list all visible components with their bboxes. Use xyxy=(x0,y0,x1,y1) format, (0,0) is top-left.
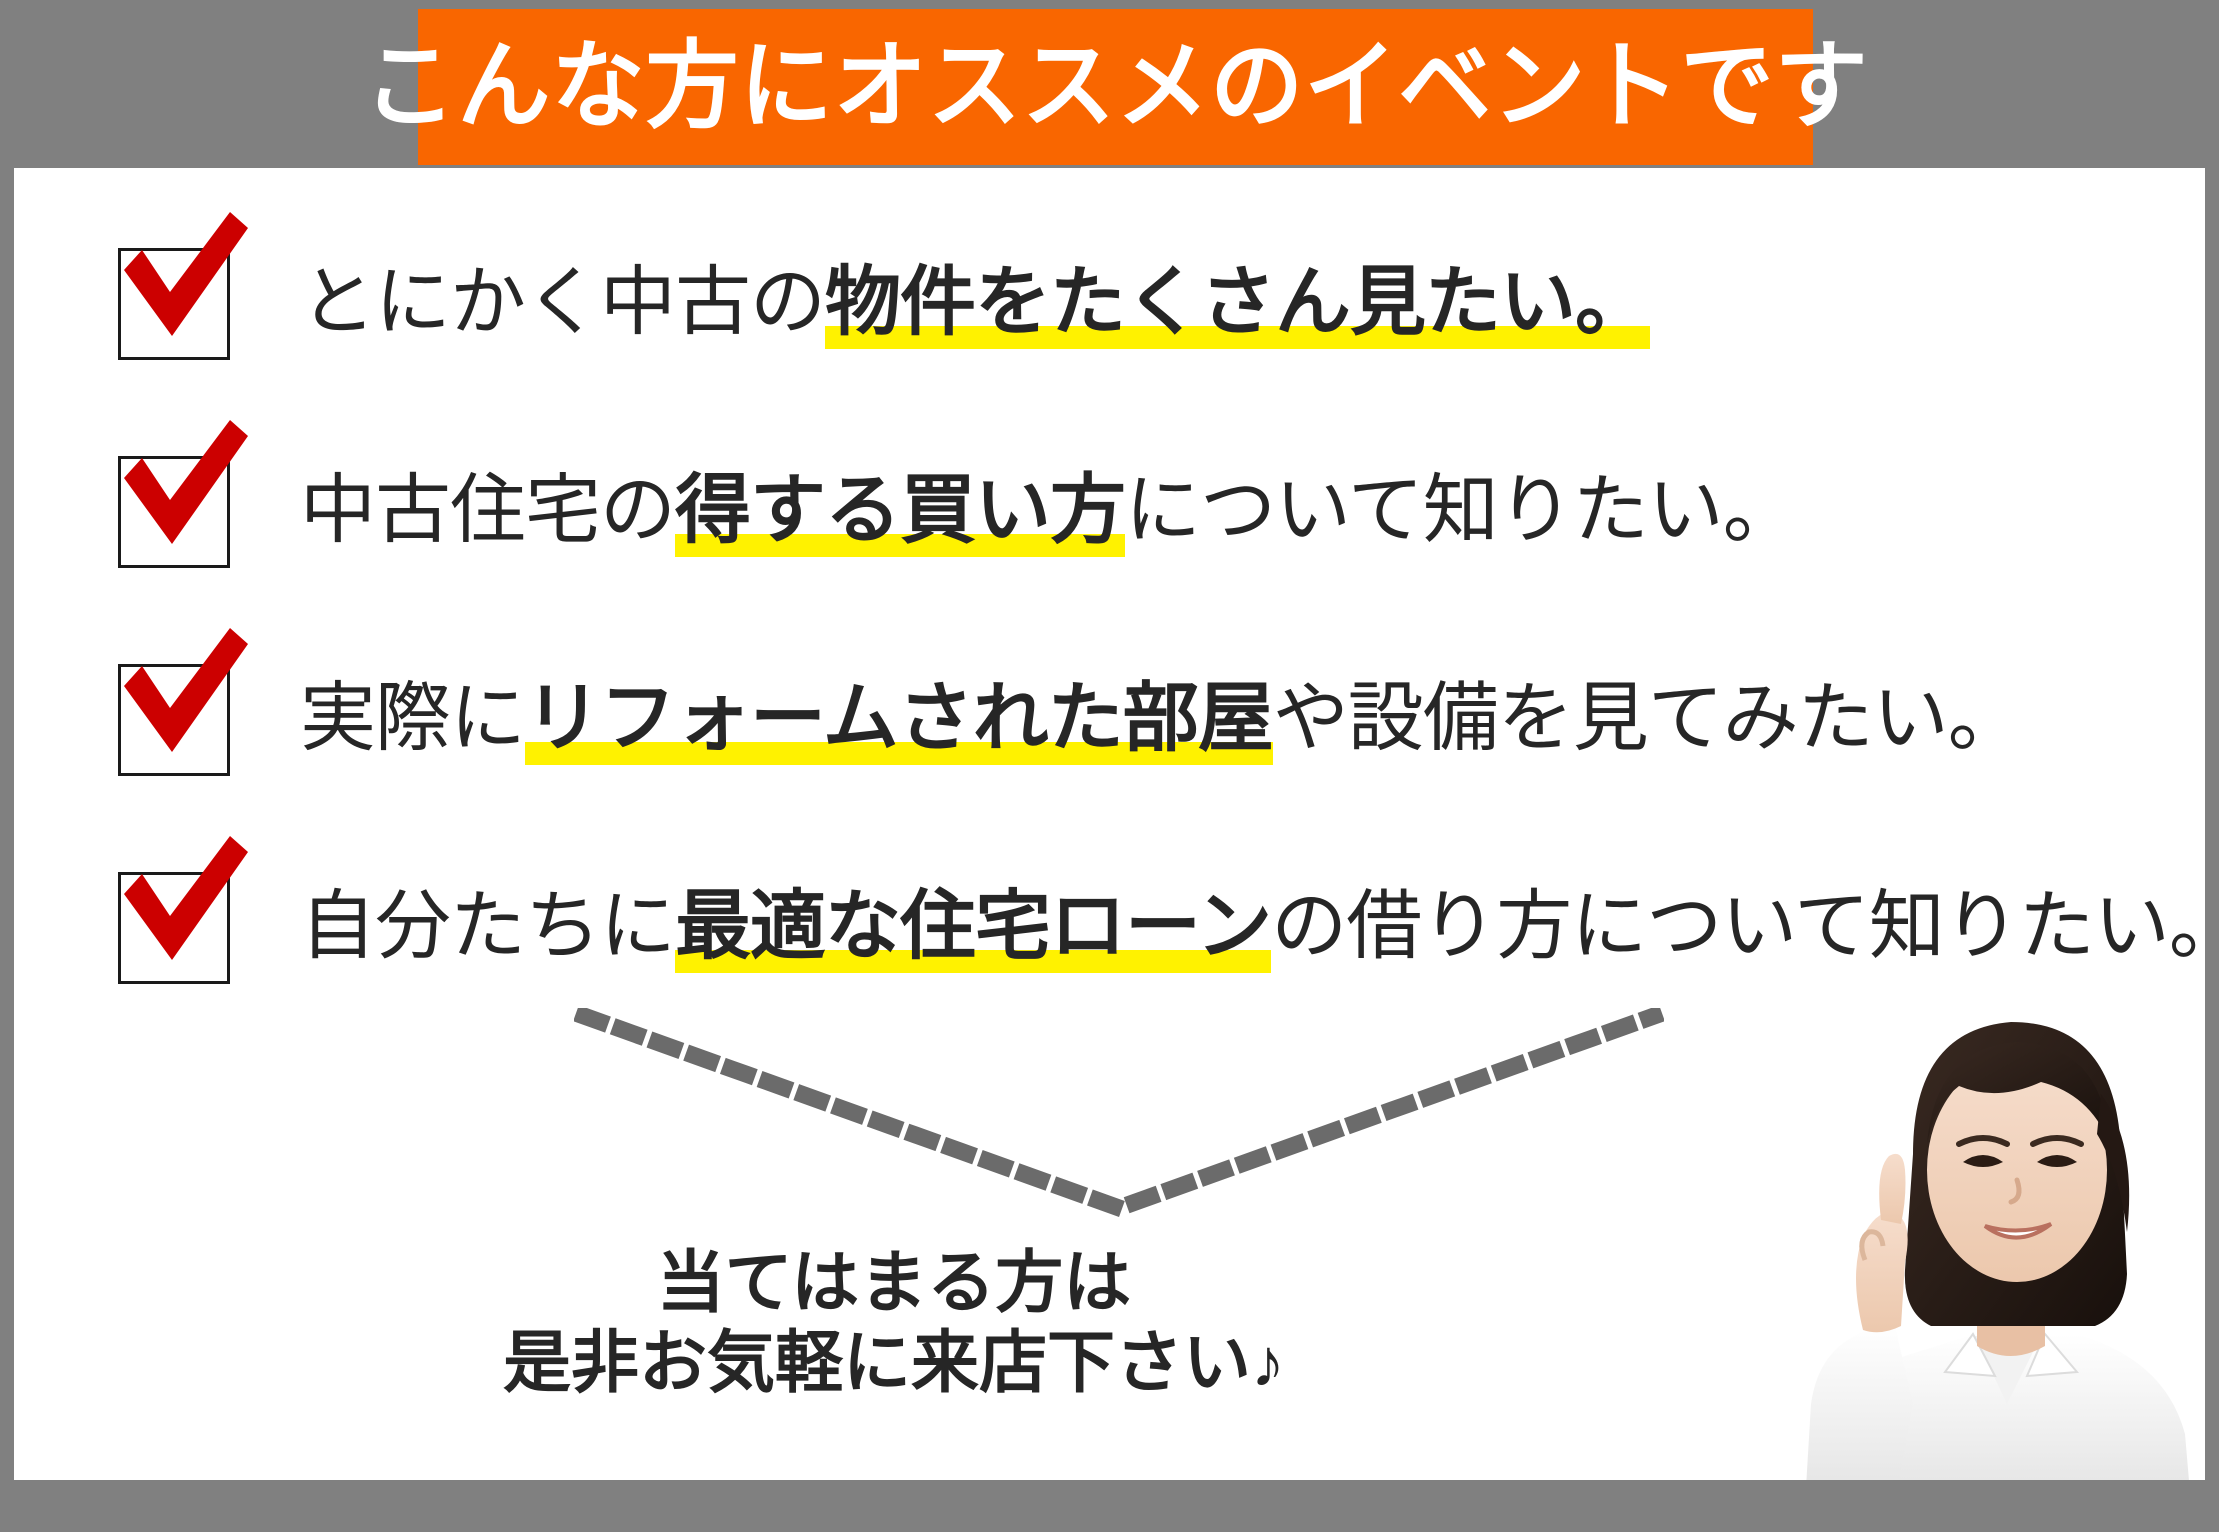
list-item-text-highlight: 得する買い方 xyxy=(675,468,1125,557)
red-check-mark-icon xyxy=(112,406,252,556)
content-panel: とにかく中古の物件をたくさん見たい。 中古住宅の得する買い方について知りたい。 xyxy=(14,168,2205,1480)
list-item-text-pre: 自分たちに xyxy=(300,884,675,969)
list-item-text: 中古住宅の得する買い方について知りたい。 xyxy=(300,436,1798,586)
list-item-text-pre: とにかく中古の xyxy=(300,260,825,345)
list-item-text-post: について知りたい。 xyxy=(1125,468,1798,553)
woman-pointing-up-photo xyxy=(1745,974,2205,1480)
list-item-text: 実際にリフォームされた部屋や設備を見てみたい。 xyxy=(300,644,2023,794)
red-check-mark-icon xyxy=(112,198,252,348)
dotted-chevron-down-icon xyxy=(574,1008,1664,1223)
cta-line-2: 是非お気軽に来店下さい♪ xyxy=(14,1323,1774,1403)
cta-line-1: 当てはまる方は xyxy=(14,1243,1774,1323)
list-item-text-post: や設備を見てみたい。 xyxy=(1273,676,2023,761)
list-item: とにかく中古の物件をたくさん見たい。 xyxy=(118,228,2188,436)
red-check-mark-icon xyxy=(112,614,252,764)
cta-text: 当てはまる方は 是非お気軽に来店下さい♪ xyxy=(14,1243,1774,1403)
poster-root: こんな方にオススメのイベントです とにかく中古の物件をたくさん見たい。 xyxy=(0,0,2219,1532)
list-item-text-highlight: 最適な住宅ローン xyxy=(675,884,1271,973)
red-check-mark-icon xyxy=(112,822,252,972)
header-banner: こんな方にオススメのイベントです xyxy=(418,9,1813,165)
list-item: 実際にリフォームされた部屋や設備を見てみたい。 xyxy=(118,644,2188,852)
list-item: 中古住宅の得する買い方について知りたい。 xyxy=(118,436,2188,644)
list-item-text: とにかく中古の物件をたくさん見たい。 xyxy=(300,228,1650,378)
list-item-text-highlight: 物件をたくさん見たい。 xyxy=(825,260,1650,349)
list-item-text-pre: 実際に xyxy=(300,676,525,761)
list-item-text-pre: 中古住宅の xyxy=(300,468,675,553)
list-item-text-post: の借り方について知りたい。 xyxy=(1271,884,2205,969)
page-title: こんな方にオススメのイベントです xyxy=(363,39,1868,135)
checklist: とにかく中古の物件をたくさん見たい。 中古住宅の得する買い方について知りたい。 xyxy=(118,228,2188,1060)
list-item-text-highlight: リフォームされた部屋 xyxy=(525,676,1273,765)
